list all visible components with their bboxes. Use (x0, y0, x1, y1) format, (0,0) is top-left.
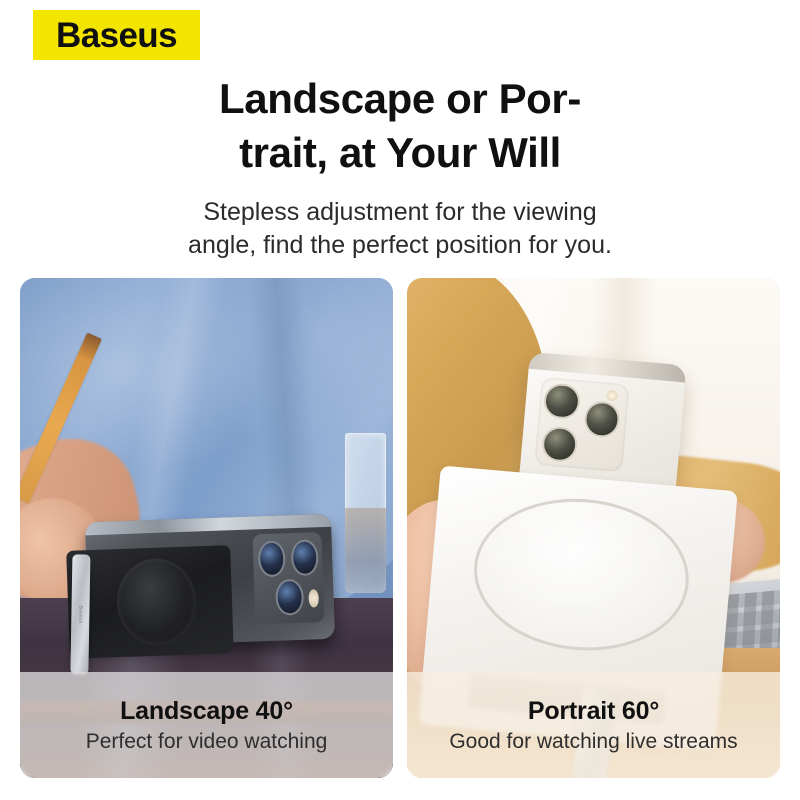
headline-line-1: Landscape or Por- (219, 75, 581, 122)
magnetic-stand-black: Baseus (67, 545, 235, 658)
caption-subtitle: Good for watching live streams (449, 730, 737, 754)
caption-title: Portrait 60° (528, 697, 659, 726)
magsafe-ring-icon (116, 557, 198, 646)
camera-lens-icon (543, 382, 581, 420)
camera-lens-icon (257, 540, 286, 577)
caption-subtitle: Perfect for video watching (86, 730, 328, 754)
showcase-panel-landscape: Baseus Landscape 40° Perfect for video w… (20, 278, 393, 778)
brand-logo-text: Baseus (56, 18, 177, 53)
camera-flash-icon (606, 390, 618, 402)
kickstand-brand-label: Baseus (78, 606, 84, 624)
caption-title: Landscape 40° (120, 697, 293, 726)
page-title: Landscape or Por- trait, at Your Will (0, 72, 800, 180)
brand-logo-badge: Baseus (33, 10, 200, 60)
camera-lens-icon (583, 400, 621, 438)
product-showcase-panels: Baseus Landscape 40° Perfect for video w… (20, 278, 780, 778)
subhead-line-2: angle, find the perfect position for you… (188, 231, 612, 259)
panel-caption-portrait: Portrait 60° Good for watching live stre… (407, 672, 780, 778)
kickstand: Baseus (71, 555, 91, 676)
camera-lens-icon (290, 539, 319, 576)
subhead-line-1: Stepless adjustment for the viewing (203, 198, 596, 226)
camera-lens-icon (275, 579, 304, 616)
panel-caption-landscape: Landscape 40° Perfect for video watching (20, 672, 393, 778)
water-glass-fill (345, 508, 386, 593)
camera-lens-icon (541, 425, 579, 463)
headline-line-2: trait, at Your Will (239, 129, 561, 176)
magsafe-ring-icon (468, 490, 695, 659)
camera-module (535, 377, 630, 473)
showcase-panel-portrait: Baseus Portrait 60° Good for watching li… (407, 278, 780, 778)
camera-module (253, 532, 325, 624)
camera-flash-icon (309, 589, 319, 607)
page-subtitle: Stepless adjustment for the viewing angl… (0, 196, 800, 262)
